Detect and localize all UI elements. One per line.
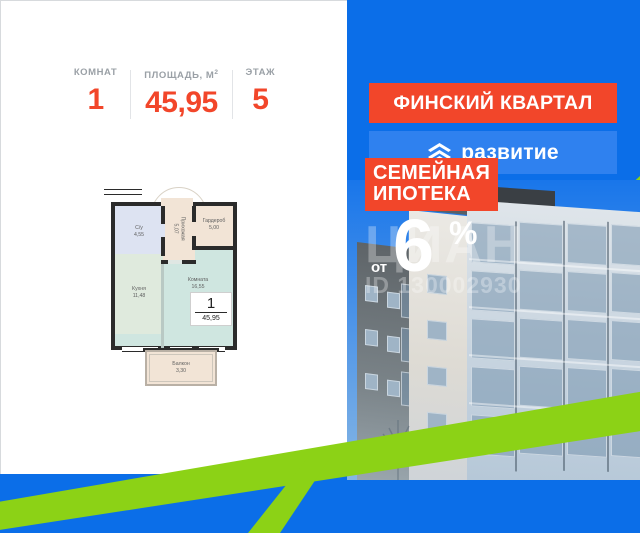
window — [104, 189, 142, 195]
stat-floor-value: 5 — [252, 82, 268, 118]
entry-door — [161, 198, 193, 206]
mortgage-tag: СЕМЕЙНАЯ ИПОТЕКА — [365, 158, 498, 211]
mortgage-rate-block: от 6 % — [365, 213, 513, 283]
complex-name: ФИНСКИЙ КВАРТАЛ — [393, 92, 592, 115]
tree-silhouette — [365, 412, 431, 480]
room-label-hallway: Прихожая 5,07 — [172, 211, 185, 247]
mortgage-prefix: от — [371, 259, 387, 276]
mortgage-line1: СЕМЕЙНАЯ — [373, 163, 490, 184]
badge-divider — [195, 312, 227, 313]
stat-rooms-value: 1 — [87, 82, 103, 118]
room-label-bathroom: С/у 4,55 — [115, 225, 163, 238]
room-label-wardrobe: Гардероб 5,00 — [195, 218, 233, 231]
advert-card: КОМНАТ 1 ПЛОЩАДЬ, м2 45,95 ЭТАЖ 5 — [0, 0, 640, 533]
floor-plan-card: КОМНАТ 1 ПЛОЩАДЬ, м2 45,95 ЭТАЖ 5 — [0, 0, 347, 474]
complex-name-banner: ФИНСКИЙ КВАРТАЛ — [369, 83, 617, 123]
apartment-stats: КОМНАТ 1 ПЛОЩАДЬ, м2 45,95 ЭТАЖ 5 — [1, 67, 348, 129]
mortgage-promo: СЕМЕЙНАЯ ИПОТЕКА от 6 % — [365, 158, 513, 283]
room-label-balcony: Балкон 3,30 — [145, 361, 217, 374]
room-label-kitchen: Кухня 11,48 — [115, 286, 163, 299]
floor-plan-drawing: С/у 4,55 Прихожая 5,07 Гардероб 5,00 Ком… — [1, 189, 348, 409]
mortgage-line2: ИПОТЕКА — [373, 184, 490, 205]
door-opening — [168, 260, 182, 264]
badge-rooms: 1 — [207, 296, 215, 311]
stat-floor: ЭТАЖ 5 — [233, 67, 289, 118]
promo-panel: ФИНСКИЙ КВАРТАЛ развитие — [347, 0, 640, 533]
stat-rooms-caption: КОМНАТ — [74, 67, 117, 79]
interior-wall — [192, 246, 237, 250]
room-label-living: Комната 16,55 — [163, 277, 233, 290]
stat-area-value: 45,95 — [145, 85, 218, 121]
stat-floor-caption: ЭТАЖ — [246, 67, 276, 79]
summary-badge: 1 45,95 — [190, 292, 232, 326]
stat-area: ПЛОЩАДЬ, м2 45,95 — [131, 67, 231, 121]
stat-area-caption: ПЛОЩАДЬ, м2 — [144, 67, 218, 82]
badge-area: 45,95 — [202, 314, 220, 323]
mortgage-rate: 6 — [393, 209, 431, 283]
square-meter-sup: 2 — [214, 69, 218, 76]
stat-rooms: КОМНАТ 1 — [61, 67, 130, 118]
mortgage-percent-sign: % — [449, 217, 477, 249]
